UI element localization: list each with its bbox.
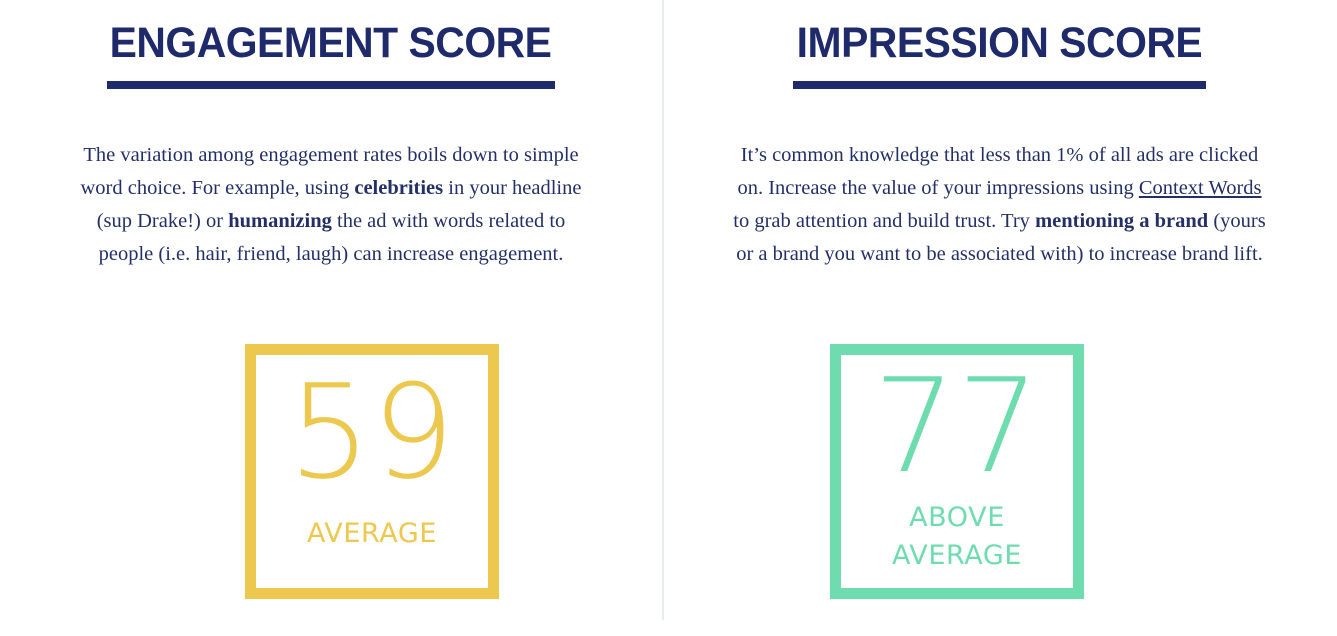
score-comparison-board: ENGAGEMENT SCORE The variation among eng… [0, 0, 1337, 636]
engagement-score-label: AVERAGE [307, 515, 437, 553]
engagement-bold-humanizing: humanizing [228, 210, 332, 232]
impression-score-panel: IMPRESSION SCORE It’s common knowledge t… [662, 0, 1337, 636]
title-underline-engagement [107, 81, 555, 89]
engagement-score-box: 59 AVERAGE [245, 344, 499, 599]
engagement-score-panel: ENGAGEMENT SCORE The variation among eng… [0, 0, 662, 636]
page-title-impression: IMPRESSION SCORE [797, 22, 1203, 65]
context-words-link[interactable]: Context Words [1139, 177, 1262, 199]
engagement-bold-celebrities: celebrities [354, 177, 443, 199]
impression-description: It’s common knowledge that less than 1% … [731, 139, 1269, 271]
impression-score-box: 77 ABOVE AVERAGE [830, 344, 1084, 599]
impression-score-value: 77 [873, 361, 1040, 491]
title-underline-impression [793, 81, 1206, 89]
engagement-description: The variation among engagement rates boi… [69, 139, 594, 271]
page-title-engagement: ENGAGEMENT SCORE [110, 22, 552, 65]
engagement-score-value: 59 [288, 367, 455, 497]
impression-text-seg2: to grab attention and build trust. Try [733, 210, 1035, 232]
impression-score-label: ABOVE AVERAGE [892, 499, 1022, 575]
impression-bold-mentioning-a-brand: mentioning a brand [1035, 210, 1208, 232]
